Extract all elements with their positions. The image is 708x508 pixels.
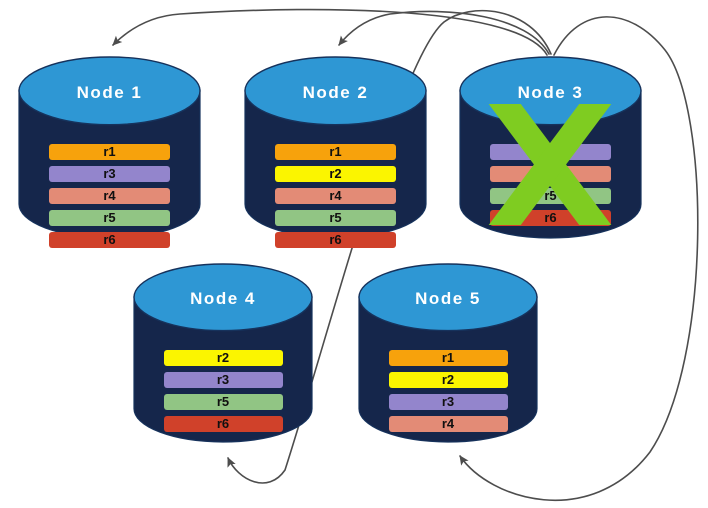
- record-row-list: r2r3r5r6: [133, 350, 313, 438]
- record-row-r5[interactable]: r5: [164, 394, 283, 410]
- record-row-list: r1r2r4r5r6: [244, 144, 427, 254]
- record-row-r5[interactable]: r5: [490, 188, 611, 204]
- record-row-r1[interactable]: r1: [389, 350, 508, 366]
- record-row-r3[interactable]: r3: [49, 166, 170, 182]
- record-row-r6[interactable]: r6: [275, 232, 396, 248]
- record-row-r4[interactable]: r4: [49, 188, 170, 204]
- record-row-r4[interactable]: r4: [389, 416, 508, 432]
- record-row-r6[interactable]: r6: [49, 232, 170, 248]
- record-row-r6[interactable]: r6: [164, 416, 283, 432]
- record-row-r2[interactable]: r2: [275, 166, 396, 182]
- cylinder-top-ellipse: [19, 57, 200, 125]
- cylinder-top-ellipse: [245, 57, 426, 125]
- record-row-r3[interactable]: r3: [389, 394, 508, 410]
- cylinder-top-ellipse: [134, 264, 312, 331]
- record-row-r5[interactable]: r5: [275, 210, 396, 226]
- node-layer: Node 1r1r3r4r5r6Node 2r1r2r4r5r6Node 3r3…: [0, 0, 708, 508]
- database-node-4[interactable]: Node 4r2r3r5r6: [133, 263, 313, 443]
- record-row-r4[interactable]: r4: [275, 188, 396, 204]
- diagram-canvas: Node 1r1r3r4r5r6Node 2r1r2r4r5r6Node 3r3…: [0, 0, 708, 508]
- database-node-2[interactable]: Node 2r1r2r4r5r6: [244, 56, 427, 239]
- database-node-1[interactable]: Node 1r1r3r4r5r6: [18, 56, 201, 239]
- record-row-list: r1r2r3r4: [358, 350, 538, 438]
- record-row-r6[interactable]: r6: [490, 210, 611, 226]
- record-row-r4[interactable]: r4: [490, 166, 611, 182]
- record-row-r3[interactable]: r3: [490, 144, 611, 160]
- record-row-list: r3r4r5r6: [459, 144, 642, 232]
- record-row-r5[interactable]: r5: [49, 210, 170, 226]
- database-node-5[interactable]: Node 5r1r2r3r4: [358, 263, 538, 443]
- record-row-r3[interactable]: r3: [164, 372, 283, 388]
- cylinder-top-ellipse: [359, 264, 537, 331]
- record-row-list: r1r3r4r5r6: [18, 144, 201, 254]
- cylinder-top-ellipse: [460, 57, 641, 125]
- database-node-3[interactable]: Node 3r3r4r5r6: [459, 56, 642, 239]
- record-row-r1[interactable]: r1: [49, 144, 170, 160]
- record-row-r1[interactable]: r1: [275, 144, 396, 160]
- record-row-r2[interactable]: r2: [389, 372, 508, 388]
- record-row-r2[interactable]: r2: [164, 350, 283, 366]
